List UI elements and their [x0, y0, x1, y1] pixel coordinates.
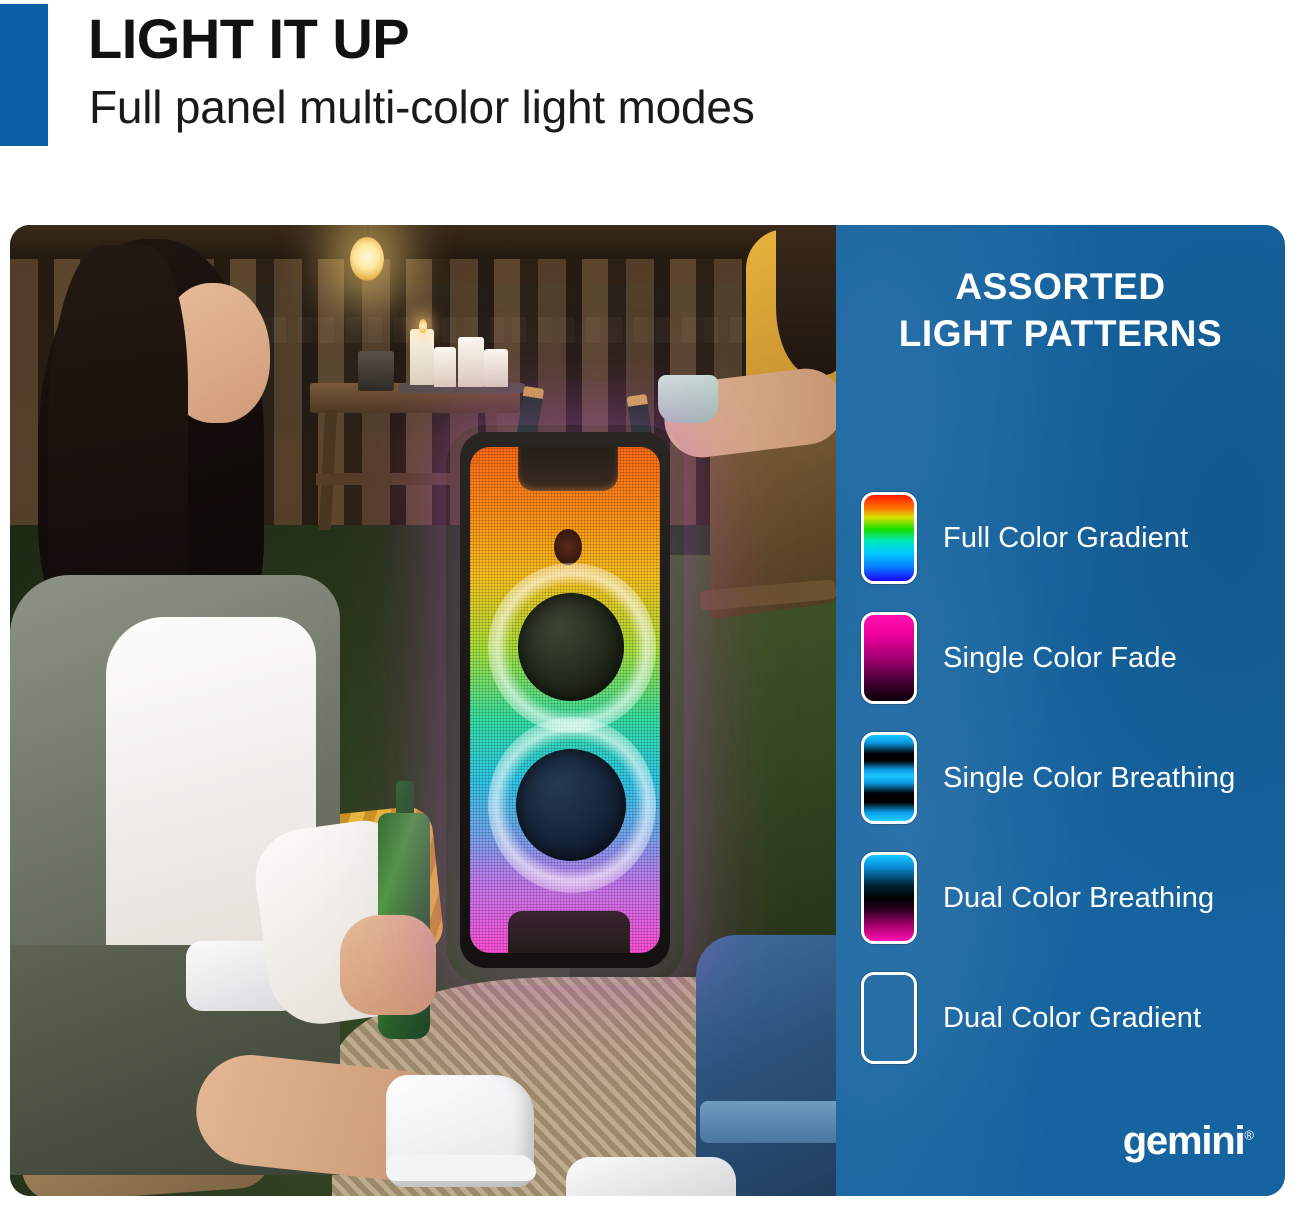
swatch-dual-color-breathing [861, 852, 917, 944]
lifestyle-photo [10, 225, 836, 1196]
pattern-label: Dual Color Gradient [943, 1002, 1201, 1035]
speaker-woofer-top [518, 593, 624, 701]
brand-logo-text: gemini [1123, 1119, 1245, 1163]
registered-trademark-icon: ® [1244, 1128, 1254, 1143]
swatch-dual-color-gradient [861, 972, 917, 1064]
photo-candle-flame [419, 319, 427, 333]
pattern-label: Dual Color Breathing [943, 882, 1214, 915]
swatch-full-color-gradient [861, 492, 917, 584]
brand-logo: gemini® [1123, 1119, 1254, 1164]
list-item: Single Color Breathing [861, 732, 1285, 824]
header-accent-bar [0, 4, 48, 146]
swatch-single-color-fade [861, 612, 917, 704]
page-header: LIGHT IT UP Full panel multi-color light… [0, 0, 1296, 200]
photo-woman-hand [340, 915, 436, 1015]
swatch-single-color-breathing [861, 732, 917, 824]
feature-card: ASSORTED LIGHT PATTERNS Full Color Gradi… [10, 225, 1285, 1196]
photo-person-right-hair [776, 225, 836, 375]
panel-title-line-1: ASSORTED [836, 263, 1285, 310]
speaker-woofer-bottom [516, 749, 626, 861]
assorted-light-patterns-panel: ASSORTED LIGHT PATTERNS Full Color Gradi… [836, 225, 1285, 1196]
photo-jeans-cuff [700, 1101, 836, 1143]
pattern-label: Full Color Gradient [943, 522, 1188, 555]
photo-candle [410, 329, 434, 385]
photo-woman-sneaker-sole [386, 1155, 536, 1181]
photo-mug [658, 375, 718, 423]
pattern-label: Single Color Fade [943, 642, 1177, 675]
speaker-bottom-handle [508, 911, 630, 953]
photo-candle [484, 349, 508, 387]
list-item: Dual Color Gradient [861, 972, 1285, 1064]
pattern-label: Single Color Breathing [943, 762, 1235, 795]
photo-hanging-bulb [350, 237, 384, 281]
list-item: Full Color Gradient [861, 492, 1285, 584]
light-pattern-list: Full Color Gradient Single Color Fade Si… [861, 492, 1285, 1092]
speaker-led-port [554, 529, 582, 565]
list-item: Dual Color Breathing [861, 852, 1285, 944]
page-subtitle: Full panel multi-color light modes [89, 82, 755, 133]
photo-person-right-shoe [566, 1157, 736, 1196]
photo-candle [434, 347, 456, 387]
photo-votive-holder [358, 351, 394, 391]
page-title: LIGHT IT UP [88, 10, 409, 69]
speaker-top-handle [518, 447, 618, 491]
photo-candle [458, 337, 484, 387]
panel-title-line-2: LIGHT PATTERNS [836, 310, 1285, 357]
list-item: Single Color Fade [861, 612, 1285, 704]
panel-title: ASSORTED LIGHT PATTERNS [836, 263, 1285, 358]
